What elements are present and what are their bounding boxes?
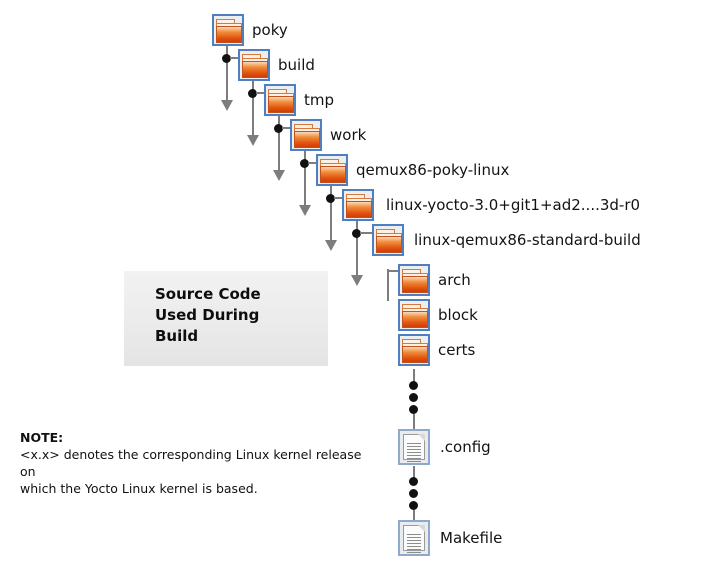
note-title: NOTE: <box>20 430 380 446</box>
arrow-head-build <box>247 135 259 146</box>
ellipsis-dot-upper-1 <box>409 381 418 390</box>
folder-icon <box>316 154 348 186</box>
tree-node-label: certs <box>438 342 475 358</box>
folder-icon <box>398 264 430 296</box>
arrow-head-qemux86-poky-linux <box>325 240 337 251</box>
tree-node-label: Makefile <box>440 530 502 546</box>
ellipsis-dot-lower-1 <box>409 477 418 486</box>
tree-node-label: arch <box>438 272 471 288</box>
arrow-head-linux-yocto <box>351 275 363 286</box>
folder-icon <box>342 189 374 221</box>
connector-line-to-config <box>413 414 415 430</box>
tree-node-label: linux-qemux86-standard-build <box>414 232 641 248</box>
note-body: <x.x> denotes the corresponding Linux ke… <box>20 446 380 497</box>
callout-box: Source Code Used During Build <box>124 271 328 366</box>
file-icon <box>398 429 430 465</box>
folder-icon <box>238 49 270 81</box>
ellipsis-dot-lower-3 <box>409 501 418 510</box>
arrow-head-tmp <box>273 170 285 181</box>
tree-node-label: work <box>330 127 366 143</box>
connector-elbow-vertical <box>387 269 389 301</box>
folder-icon <box>264 84 296 116</box>
callout-text: Source Code Used During Build <box>155 284 261 347</box>
tree-node-label: poky <box>252 22 288 38</box>
ellipsis-dot-lower-2 <box>409 489 418 498</box>
diagram-canvas: poky build tmp work qemux86-poky-linux l… <box>0 0 705 581</box>
folder-icon <box>290 119 322 151</box>
tree-node-label: linux-yocto-3.0+git1+ad2....3d-r0 <box>386 197 640 213</box>
arrow-head-work <box>299 205 311 216</box>
folder-icon <box>212 14 244 46</box>
folder-icon <box>398 334 430 366</box>
tree-node-label: .config <box>440 439 491 455</box>
tree-node-label: block <box>438 307 478 323</box>
tree-node-label: tmp <box>304 92 334 108</box>
tree-node-label: qemux86-poky-linux <box>356 162 509 178</box>
file-icon <box>398 520 430 556</box>
ellipsis-dot-upper-3 <box>409 405 418 414</box>
ellipsis-dot-upper-2 <box>409 393 418 402</box>
folder-icon <box>398 299 430 331</box>
arrow-head-poky <box>221 100 233 111</box>
tree-node-label: build <box>278 57 315 73</box>
note-block: NOTE: <x.x> denotes the corresponding Li… <box>20 430 380 497</box>
folder-icon <box>372 224 404 256</box>
